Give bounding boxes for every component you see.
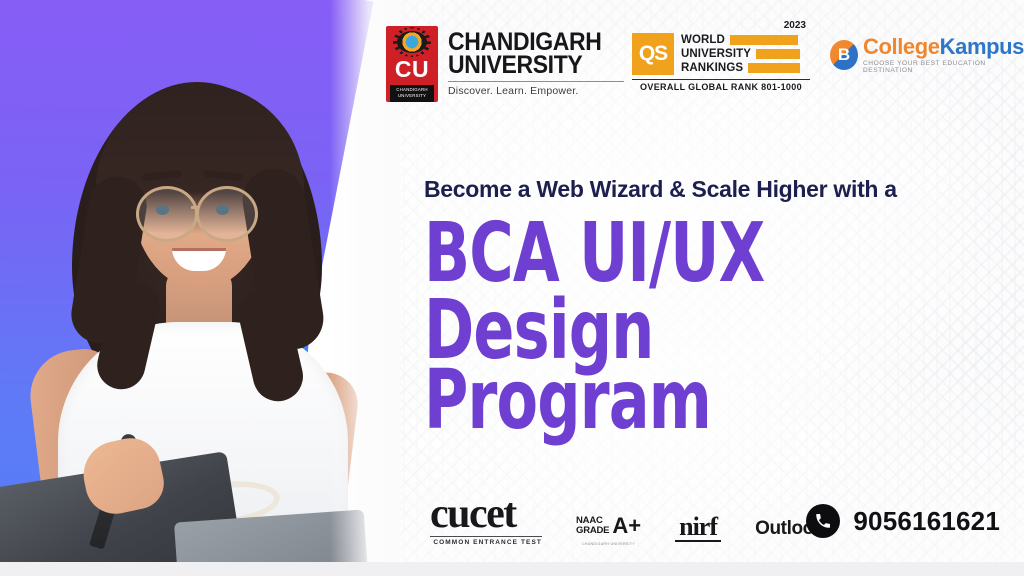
naac-label-grade: GRADE xyxy=(576,526,609,536)
contact-phone[interactable]: 9056161621 xyxy=(806,504,1000,538)
headline-line-2: Design Program xyxy=(424,296,883,437)
divider xyxy=(430,536,542,537)
ck-word-kampus: Kampus xyxy=(940,34,1024,59)
qs-body: QS WORLD UNIVERSITY RANKINGS xyxy=(632,33,810,75)
headline-main: BCA UI/UX Design Program xyxy=(424,219,984,437)
naac-labels: NAAC GRADE xyxy=(576,516,609,536)
headline-word-program: Program xyxy=(424,353,711,448)
qs-word-world: WORLD xyxy=(681,34,725,46)
qs-badge-icon: QS xyxy=(632,33,674,75)
promo-banner: CU CHANDIGARH UNIVERSITY CHANDIGARH UNIV… xyxy=(0,0,1024,576)
nirf-logo: nirf xyxy=(675,515,721,541)
cu-wordmark: CHANDIGARH UNIVERSITY Discover. Learn. E… xyxy=(448,31,624,98)
headline-block: Become a Web Wizard & Scale Higher with … xyxy=(424,176,984,437)
accreditation-row: cucet COMMON ENTRANCE TEST NAAC GRADE A+… xyxy=(430,498,824,546)
chandigarh-university-logo: CU CHANDIGARH UNIVERSITY CHANDIGARH UNIV… xyxy=(386,26,624,102)
glasses-lens xyxy=(196,186,258,242)
qs-word-rankings: RANKINGS xyxy=(681,62,743,74)
qs-lines: WORLD UNIVERSITY RANKINGS xyxy=(681,34,800,74)
college-kampus-wordmark: CollegeKampus CHOOSE YOUR BEST EDUCATION… xyxy=(863,36,1024,74)
ck-word-college: College xyxy=(863,34,940,59)
cucet-wordmark: cucet xyxy=(430,498,542,532)
headline-line-1: BCA UI/UX xyxy=(424,219,883,290)
cu-gear-globe-icon xyxy=(397,31,427,53)
naac-grade-block: NAAC GRADE A+ xyxy=(576,515,641,537)
logo-row: CU CHANDIGARH UNIVERSITY CHANDIGARH UNIV… xyxy=(386,16,1024,108)
qs-line-world: WORLD xyxy=(681,34,800,46)
qs-overall-rank: OVERALL GLOBAL RANK 801-1000 xyxy=(632,82,810,92)
nirf-wordmark: nirf xyxy=(679,515,717,538)
qs-bar xyxy=(748,63,800,73)
phone-icon xyxy=(806,504,840,538)
cu-monogram: CU xyxy=(395,58,429,81)
phone-number: 9056161621 xyxy=(853,506,1000,537)
naac-logo: NAAC GRADE A+ CHANDIGARH UNIVERSITY xyxy=(576,515,641,546)
headline-kicker: Become a Web Wizard & Scale Higher with … xyxy=(424,176,984,203)
naac-grade-value: A+ xyxy=(612,515,641,537)
qs-world-university-rankings-logo: 2023 QS WORLD UNIVERSITY RANKINGS xyxy=(632,24,810,92)
cu-emblem-icon: CU CHANDIGARH UNIVERSITY xyxy=(386,26,438,102)
hero-image-panel xyxy=(0,0,400,576)
qs-line-university: UNIVERSITY xyxy=(681,48,800,60)
divider xyxy=(448,81,624,82)
qs-line-rankings: RANKINGS xyxy=(681,62,800,74)
cucet-subtitle: COMMON ENTRANCE TEST xyxy=(430,539,542,546)
cu-emblem-caption: CHANDIGARH UNIVERSITY xyxy=(390,85,434,102)
college-kampus-tagline: CHOOSE YOUR BEST EDUCATION DESTINATION xyxy=(863,60,1024,74)
qs-word-university: UNIVERSITY xyxy=(681,48,751,60)
glasses-lens xyxy=(136,186,198,242)
qs-bar xyxy=(730,35,798,45)
glasses-bridge xyxy=(191,206,199,209)
nirf-underline xyxy=(675,540,721,542)
qs-year: 2023 xyxy=(784,20,806,31)
naac-footnote: CHANDIGARH UNIVERSITY xyxy=(582,542,635,546)
cu-name-line2: UNIVERSITY xyxy=(448,54,610,77)
cu-tagline: Discover. Learn. Empower. xyxy=(448,85,624,97)
bottom-strip xyxy=(0,562,1024,576)
college-kampus-logo[interactable]: CollegeKampus CHOOSE YOUR BEST EDUCATION… xyxy=(830,36,1024,74)
divider xyxy=(632,79,810,80)
qs-bar xyxy=(756,49,800,59)
college-kampus-mark-icon xyxy=(830,40,858,70)
cucet-logo: cucet COMMON ENTRANCE TEST xyxy=(430,498,542,546)
college-kampus-name: CollegeKampus xyxy=(863,36,1024,58)
